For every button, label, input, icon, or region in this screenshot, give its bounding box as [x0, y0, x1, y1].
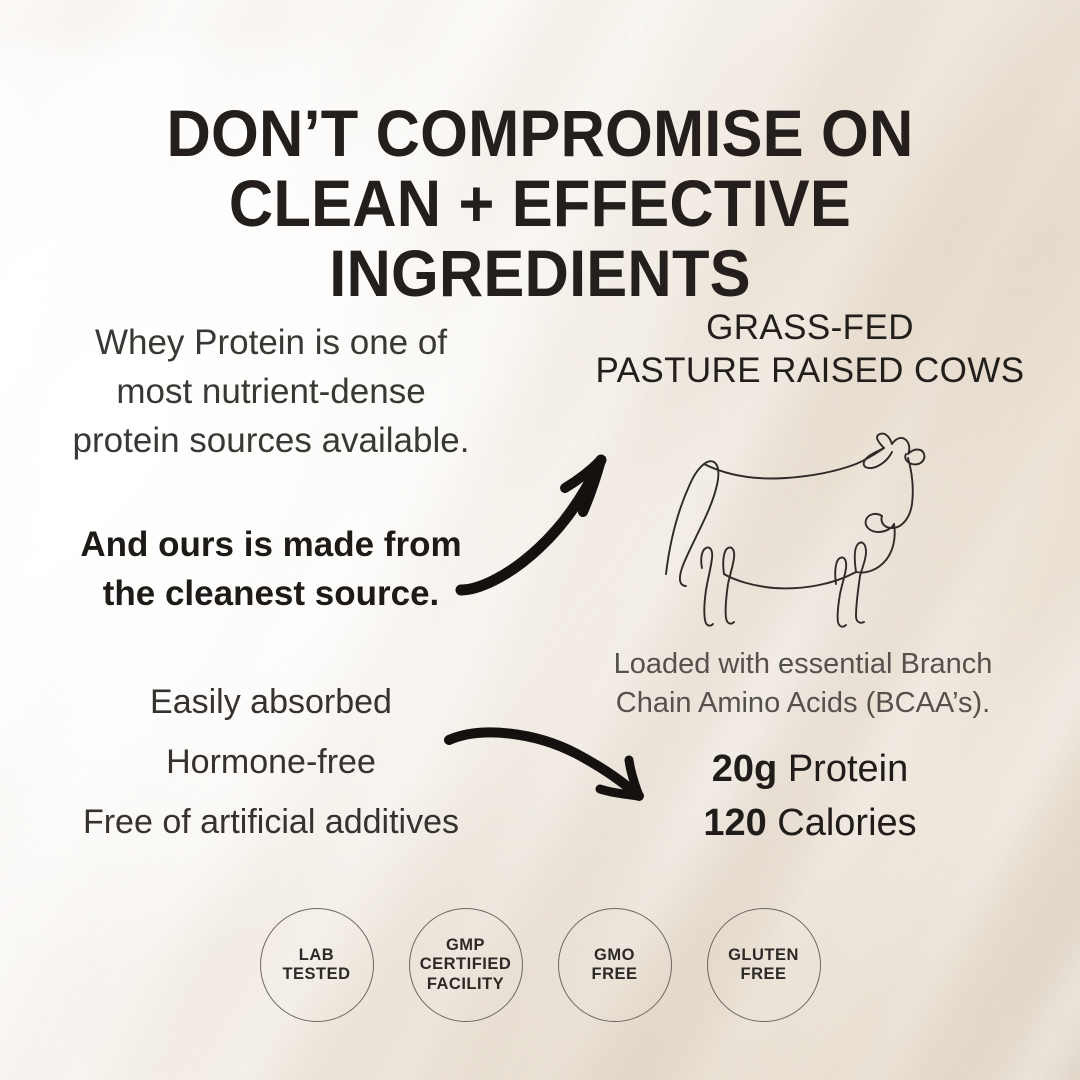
badge-lab-tested[interactable]: LAB TESTED	[260, 908, 374, 1022]
grassfed-line-2: PASTURE RAISED COWS	[560, 349, 1060, 392]
source-statement-line-2: the cleanest source.	[36, 569, 506, 618]
protein-value: 20g	[712, 748, 777, 790]
badge-line: FREE	[591, 965, 637, 985]
cow-icon	[648, 418, 938, 643]
badge-line: CERTIFIED	[420, 955, 512, 975]
grassfed-heading: GRASS-FED PASTURE RAISED COWS	[560, 306, 1060, 392]
protein-label: Protein	[788, 748, 908, 790]
intro-line-3: protein sources available.	[36, 416, 506, 465]
arrow-up-right-icon	[455, 438, 640, 598]
source-statement-line-1: And ours is made from	[36, 520, 506, 569]
badge-line: GMO	[594, 946, 635, 966]
badge-line: FREE	[740, 965, 786, 985]
intro-line-1: Whey Protein is one of	[36, 318, 506, 367]
calories-label: Calories	[777, 802, 916, 844]
badge-line: LAB	[299, 946, 334, 966]
calories-value: 120	[703, 802, 766, 844]
headline-line-2: CLEAN + EFFECTIVE	[38, 168, 1042, 238]
bcaa-line-1: Loaded with essential Branch	[568, 645, 1038, 684]
grassfed-line-1: GRASS-FED	[560, 306, 1060, 349]
badge-gmo-free[interactable]: GMO FREE	[558, 908, 672, 1022]
source-statement: And ours is made from the cleanest sourc…	[36, 520, 506, 618]
badge-gluten-free[interactable]: GLUTEN FREE	[707, 908, 821, 1022]
arrow-down-right-icon	[443, 718, 668, 810]
badge-gmp-certified-facility[interactable]: GMP CERTIFIED FACILITY	[409, 908, 523, 1022]
certification-badges: LAB TESTED GMP CERTIFIED FACILITY GMO FR…	[0, 908, 1080, 1022]
bcaa-caption: Loaded with essential Branch Chain Amino…	[568, 645, 1038, 723]
badge-line: FACILITY	[427, 975, 504, 995]
intro-paragraph: Whey Protein is one of most nutrient-den…	[36, 318, 506, 465]
infographic-canvas: DON’T COMPROMISE ON CLEAN + EFFECTIVE IN…	[0, 0, 1080, 1080]
headline-line-3: INGREDIENTS	[38, 238, 1042, 308]
badge-line: GMP	[446, 936, 485, 956]
badge-line: TESTED	[282, 965, 350, 985]
intro-line-2: most nutrient-dense	[36, 367, 506, 416]
page-title: DON’T COMPROMISE ON CLEAN + EFFECTIVE IN…	[38, 98, 1042, 308]
headline-line-1: DON’T COMPROMISE ON	[38, 98, 1042, 168]
badge-line: GLUTEN	[728, 946, 799, 966]
